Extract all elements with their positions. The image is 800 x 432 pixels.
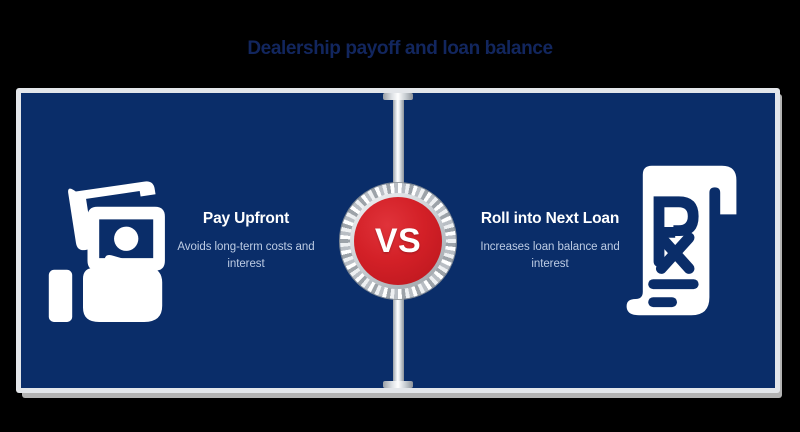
vs-badge: VS [340, 183, 456, 299]
divider-cap-bottom [383, 381, 413, 388]
left-option-title: Pay Upfront [173, 209, 319, 228]
page-title: Dealership payoff and loan balance [247, 38, 552, 60]
comparison-panel: Pay Upfront Avoids long-term costs and i… [21, 93, 775, 388]
comparison-panel-frame: Pay Upfront Avoids long-term costs and i… [16, 88, 780, 393]
page-title-bar: Dealership payoff and loan balance [0, 34, 800, 64]
vs-badge-label: VS [375, 224, 421, 258]
right-option-text: Roll into Next Loan Increases loan balan… [477, 209, 623, 272]
vs-badge-core: VS [354, 197, 442, 285]
rx-prescription-receipt-icon [623, 156, 749, 326]
left-option-text: Pay Upfront Avoids long-term costs and i… [173, 209, 319, 272]
right-option-description: Increases loan balance and interest [477, 239, 623, 272]
hand-holding-cash-icon [47, 156, 173, 326]
right-option-title: Roll into Next Loan [477, 209, 623, 228]
divider-cap-top [383, 93, 413, 100]
left-option-description: Avoids long-term costs and interest [173, 239, 319, 272]
vs-badge-ring: VS [350, 193, 446, 289]
infographic-canvas: Dealership payoff and loan balance [0, 0, 800, 432]
